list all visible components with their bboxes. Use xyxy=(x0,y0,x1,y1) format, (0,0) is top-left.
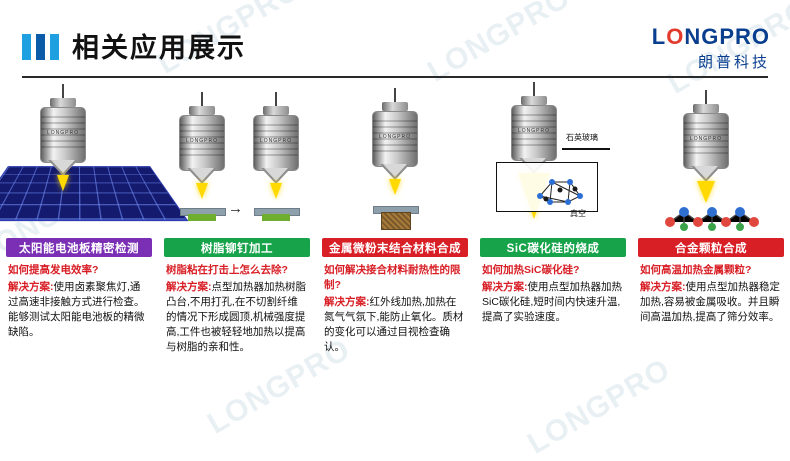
workpiece-base-right xyxy=(262,214,290,221)
device-brand-label: LONGPRO xyxy=(684,136,728,142)
card-question-2: 树脂粘在打击上怎么去除? xyxy=(166,263,308,278)
application-card-3: LONGPRO 金属微粉末结合材料合成 如何解决接合材料耐热性的限制? 解决方案… xyxy=(316,88,474,444)
card-answer-1: 解决方案:使用卤素聚焦灯,通过高速非接触方式进行检查。能够测试太阳能电池板的精微… xyxy=(8,280,150,340)
process-arrow-icon: → xyxy=(228,200,243,217)
device-barrel: LONGPRO xyxy=(511,105,557,161)
card-answer-5: 解决方案:使用点型加热器稳定加热,容易被金属吸收。并且瞬间高温加热,提高了筛分效… xyxy=(640,280,782,325)
device-barrel: LONGPRO xyxy=(372,111,418,167)
device-brand-label: LONGPRO xyxy=(373,134,417,140)
card-caption-1: 太阳能电池板精密检测 xyxy=(6,238,152,257)
card-answer-4: 解决方案:使用点型加热器加热SiC碳化硅,短时间内快速升温,提高了实验速度。 xyxy=(482,280,624,325)
card-caption-4: SiC碳化硅的烧成 xyxy=(480,238,626,257)
answer-label-3: 解决方案: xyxy=(324,296,370,308)
card-question-4: 如何加热SiC碳化硅? xyxy=(482,263,624,278)
answer-label-5: 解决方案: xyxy=(640,281,686,293)
device-cap xyxy=(189,106,215,115)
light-beam xyxy=(57,175,69,191)
card-question-1: 如何提高发电效率? xyxy=(8,263,150,278)
logo-text-en: LONGPRO xyxy=(652,26,770,48)
label-vacuum: 真空 xyxy=(570,208,586,219)
accent-bar xyxy=(50,34,59,60)
device-cap xyxy=(693,104,719,113)
answer-label-4: 解决方案: xyxy=(482,281,528,293)
crystal-lattice-icon xyxy=(530,172,588,206)
card-text-1: 如何提高发电效率? 解决方案:使用卤素聚焦灯,通过高速非接触方式进行检查。能够测… xyxy=(8,263,150,340)
header-accent-bars xyxy=(22,34,59,60)
device-cap xyxy=(50,98,76,107)
light-beam xyxy=(270,183,282,199)
device-barrel: LONGPRO xyxy=(253,115,299,171)
device-brand-label: LONGPRO xyxy=(512,128,556,134)
illustration-resin-rivet: LONGPRO → LONGPRO xyxy=(158,88,316,238)
card-text-3: 如何解决接合材料耐热性的限制? 解决方案:红外线加热,加热在氮气气氛下,能防止氧… xyxy=(324,263,466,355)
light-beam xyxy=(389,179,401,195)
page-header: 相关应用展示 LONGPRO 朗普科技 xyxy=(0,0,790,88)
card-caption-5: 合金颗粒合成 xyxy=(638,238,784,257)
device-nozzle-inner xyxy=(190,168,214,181)
application-card-1: LONGPRO 太阳能电池板精密检测 如何提高发电效率? 解决方案:使用卤素聚焦… xyxy=(0,88,158,444)
device-barrel: LONGPRO xyxy=(179,115,225,171)
card-answer-2: 解决方案:点型加热器加热树脂凸台,不用打孔,在不切割纤维的情况下形成圆顶,机械强… xyxy=(166,280,308,355)
answer-label-1: 解决方案: xyxy=(8,281,54,293)
illustration-metal-powder: LONGPRO xyxy=(316,88,474,238)
application-card-2: LONGPRO → LONGPRO xyxy=(158,88,316,444)
applications-row: LONGPRO 太阳能电池板精密检测 如何提高发电效率? 解决方案:使用卤素聚焦… xyxy=(0,88,790,444)
light-beam xyxy=(196,183,208,199)
illustration-sic: LONGPRO 石英玻璃 xyxy=(474,88,632,238)
device-brand-label: LONGPRO xyxy=(180,138,224,144)
device-nozzle-inner xyxy=(51,160,75,173)
device-nozzle-inner xyxy=(694,166,718,179)
device-barrel: LONGPRO xyxy=(683,113,729,169)
application-card-5: LONGPRO xyxy=(632,88,790,444)
illustration-solar-panel: LONGPRO xyxy=(0,88,158,238)
card-caption-2: 树脂铆钉加工 xyxy=(164,238,310,257)
device-nozzle-inner xyxy=(264,168,288,181)
accent-bar xyxy=(22,34,31,60)
card-answer-3: 解决方案:红外线加热,加热在氮气气氛下,能防止氧化。质材的变化可以通过目视检查确… xyxy=(324,295,466,355)
device-cap xyxy=(382,102,408,111)
label-quartz-glass: 石英玻璃 xyxy=(566,132,598,143)
header-divider xyxy=(22,76,768,78)
metal-powder-block xyxy=(381,212,411,230)
application-card-4: LONGPRO 石英玻璃 xyxy=(474,88,632,444)
device-cap xyxy=(521,96,547,105)
card-text-4: 如何加热SiC碳化硅? 解决方案:使用点型加热器加热SiC碳化硅,短时间内快速升… xyxy=(482,263,624,325)
accent-bar xyxy=(36,34,45,60)
card-text-5: 如何高温加热金属颗粒? 解决方案:使用点型加热器稳定加热,容易被金属吸收。并且瞬… xyxy=(640,263,782,325)
answer-label-2: 解决方案: xyxy=(166,281,212,293)
workpiece-base-left xyxy=(188,214,216,221)
card-caption-3: 金属微粉末结合材料合成 xyxy=(322,238,468,257)
card-text-2: 树脂粘在打击上怎么去除? 解决方案:点型加热器加热树脂凸台,不用打孔,在不切割纤… xyxy=(166,263,308,355)
molecule-cluster-icon xyxy=(658,200,766,234)
brand-logo: LONGPRO 朗普科技 xyxy=(652,26,770,72)
device-brand-label: LONGPRO xyxy=(41,130,85,136)
quartz-glass-line xyxy=(562,148,610,150)
device-cap xyxy=(263,106,289,115)
device-barrel: LONGPRO xyxy=(40,107,86,163)
illustration-alloy-particles: LONGPRO xyxy=(632,88,790,238)
device-brand-label: LONGPRO xyxy=(254,138,298,144)
card-question-3: 如何解决接合材料耐热性的限制? xyxy=(324,263,466,293)
logo-text-cn: 朗普科技 xyxy=(652,51,770,72)
page-title: 相关应用展示 xyxy=(72,26,246,65)
device-nozzle-inner xyxy=(383,164,407,177)
card-question-5: 如何高温加热金属颗粒? xyxy=(640,263,782,278)
